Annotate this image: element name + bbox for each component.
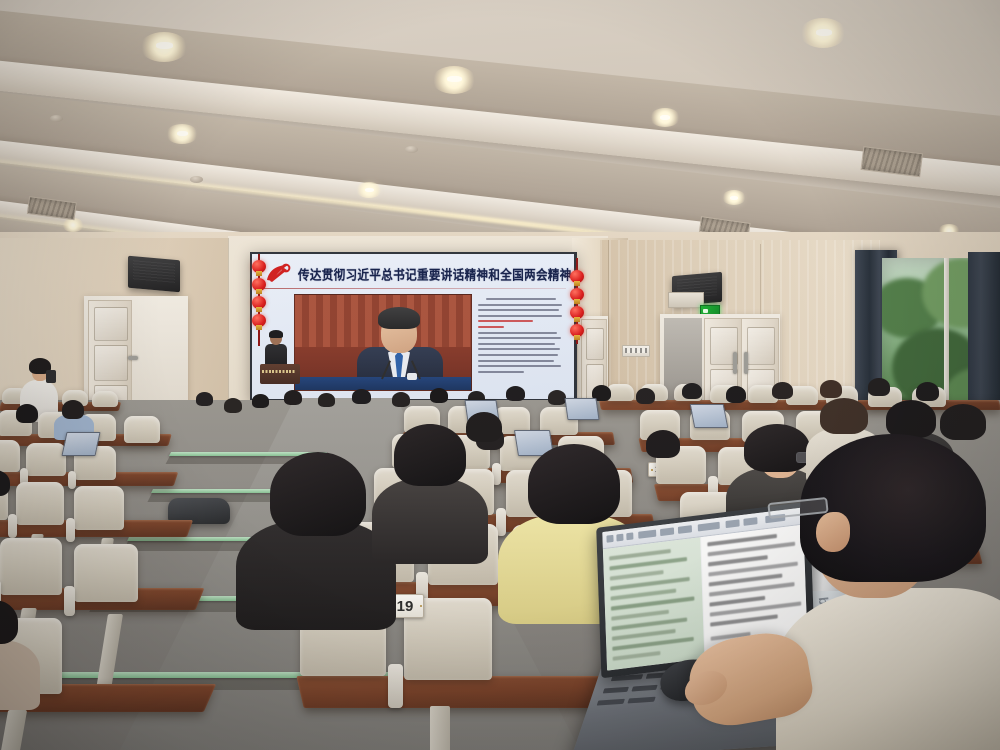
smoke-detector-icon <box>190 176 203 183</box>
lecture-hall-photo: 传达贯彻习近平总书记重要讲话精神和全国两会精神 <box>0 0 1000 750</box>
podium-plaque-text <box>262 370 296 373</box>
smoke-detector-icon <box>405 146 418 153</box>
door-handle-icon[interactable] <box>733 352 737 374</box>
ceiling <box>0 0 1000 262</box>
ceiling-downlight <box>816 29 832 36</box>
cpc-party-emblem-icon <box>264 262 294 286</box>
projection-body-text <box>478 298 566 392</box>
red-lantern-decoration-left <box>252 254 266 346</box>
ear <box>816 512 850 552</box>
wall-speaker-left <box>128 256 180 293</box>
ceiling-downlight <box>447 76 462 82</box>
smartphone-held <box>46 370 56 383</box>
audience-laptop <box>564 398 599 420</box>
door-handle-icon[interactable] <box>744 352 748 374</box>
projection-title: 传达贯彻习近平总书记重要讲话精神和全国两会精神 <box>298 266 568 284</box>
ceiling-downlight <box>365 188 374 192</box>
ceiling-downlight <box>177 131 188 136</box>
audience-laptop <box>61 432 100 456</box>
ceiling-downlight <box>730 196 738 200</box>
projection-screen: 传达贯彻习近平总书记重要讲话精神和全国两会精神 <box>250 252 577 402</box>
title-divider <box>262 288 566 289</box>
red-lantern-decoration-right <box>570 258 584 344</box>
light-switch-panel[interactable] <box>622 345 650 357</box>
wall-air-vent <box>668 292 704 308</box>
projected-video <box>294 294 472 391</box>
ceiling-downlight <box>156 42 173 49</box>
projected-podium <box>260 364 300 384</box>
ceiling-downlight <box>660 115 670 120</box>
audience-laptop <box>690 404 729 428</box>
smoke-detector-icon <box>50 115 63 122</box>
document-pane-left[interactable] <box>603 537 705 670</box>
projected-podium-speaker <box>262 332 290 380</box>
door-handle-icon[interactable] <box>128 356 138 360</box>
